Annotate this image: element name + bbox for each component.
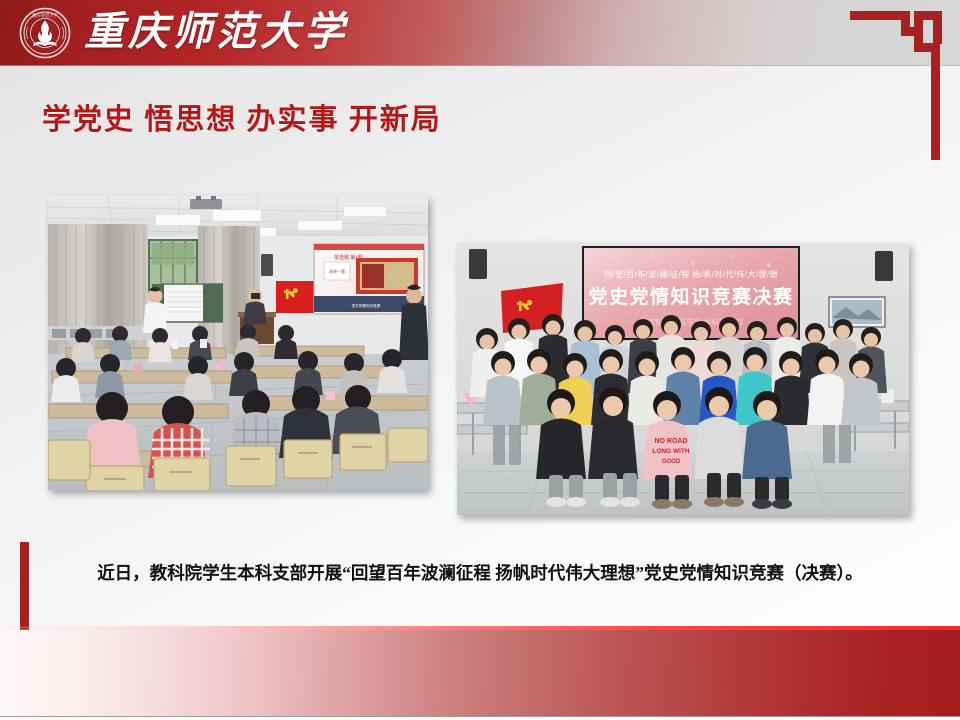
svg-text:重庆师范大学: 重庆师范大学 (32, 12, 59, 19)
page-title: 学党史 悟思想 办实事 开新局 (42, 96, 442, 138)
university-name: 重庆师范大学 (84, 2, 348, 64)
photo-classroom: 单选题 第1题 选择一题 党史党情知识竞赛 (48, 196, 428, 490)
university-emblem-icon: 重庆师范大学 1954 (19, 7, 71, 59)
svg-text:选择一题: 选择一题 (329, 268, 345, 274)
caption-text: 近日，教科院学生本科支部开展“回望百年波澜征程 扬帆时代伟大理想”党史党情知识竞… (0, 560, 960, 585)
svg-text:NO ROAD: NO ROAD (654, 438, 687, 445)
svg-text:党史党情知识竞赛决赛: 党史党情知识竞赛决赛 (588, 285, 793, 308)
svg-text:1954: 1954 (41, 52, 49, 56)
footer-gradient-band (0, 630, 960, 716)
svg-text:回/望/百/年/波/澜/征/程 扬/帆/时/代/伟/大/: 回/望/百/年/波/澜/征/程 扬/帆/时/代/伟/大/理/想 (604, 269, 778, 279)
slide-canvas: 重庆师范大学 1954 重庆师范大学 (0, 0, 960, 720)
svg-text:GOOD: GOOD (662, 459, 681, 465)
svg-text:LONG WITH: LONG WITH (652, 448, 689, 455)
svg-text:党史党情知识竞赛: 党史党情知识竞赛 (352, 303, 381, 308)
footer-bottom-rule (0, 716, 960, 720)
photo-group: 回/望/百/年/波/澜/征/程 扬/帆/时/代/伟/大/理/想 党史党情知识竞赛… (457, 243, 909, 515)
chinese-corner-ornament-top-right-icon (850, 10, 946, 160)
